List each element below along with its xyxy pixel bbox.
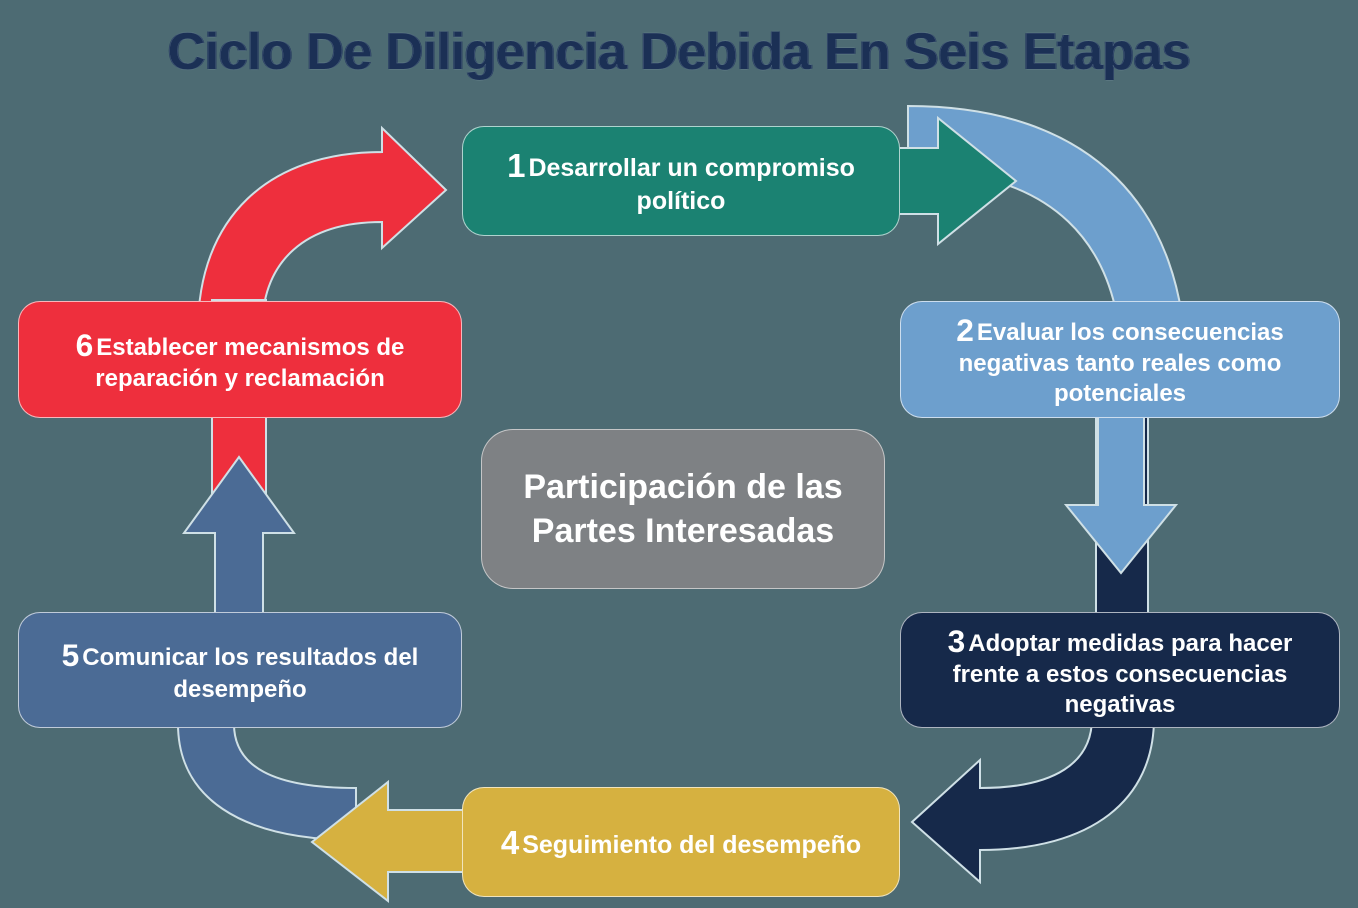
arrow-3-to-4-body bbox=[912, 718, 1154, 882]
step-label-3: Adoptar medidas para hacer frente a esto… bbox=[953, 630, 1293, 718]
step-box-3[interactable]: 3Adoptar medidas para hacer frente a est… bbox=[900, 612, 1340, 728]
step-box-2[interactable]: 2Evaluar los consecuencias negativas tan… bbox=[900, 301, 1340, 418]
connector-2-to-3 bbox=[1066, 412, 1176, 620]
connector-4-to-5 bbox=[178, 724, 466, 901]
arrow-2-to-3-body bbox=[1066, 412, 1176, 573]
step-number-3: 3 bbox=[948, 623, 966, 659]
center-hub-line-1: Participación de las bbox=[523, 465, 842, 509]
step-box-6[interactable]: 6Establecer mecanismos de reparación y r… bbox=[18, 301, 462, 418]
step-number-2: 2 bbox=[956, 312, 974, 348]
arrow-4-to-5-band bbox=[178, 724, 356, 840]
step-number-5: 5 bbox=[62, 637, 80, 673]
step-label-6: Establecer mecanismos de reparación y re… bbox=[95, 334, 404, 392]
arrow-5-to-6-body bbox=[184, 457, 294, 618]
connector-3-to-4 bbox=[912, 718, 1154, 882]
step-number-4: 4 bbox=[501, 824, 519, 861]
step-label-4: Seguimiento del desempeño bbox=[522, 831, 861, 859]
center-hub[interactable]: Participación de las Partes Interesadas bbox=[481, 429, 885, 589]
step-box-5[interactable]: 5Comunicar los resultados del desempeño bbox=[18, 612, 462, 728]
center-hub-line-2: Partes Interesadas bbox=[523, 509, 842, 553]
step-number-1: 1 bbox=[507, 147, 525, 184]
step-label-1: Desarrollar un compromiso político bbox=[528, 154, 854, 215]
step-label-2: Evaluar los consecuencias negativas tant… bbox=[959, 319, 1284, 407]
step-box-4[interactable]: 4Seguimiento del desempeño bbox=[462, 787, 900, 897]
diagram-canvas: Ciclo De Diligencia Debida En Seis Etapa… bbox=[0, 0, 1358, 908]
step-box-1[interactable]: 1Desarrollar un compromiso político bbox=[462, 126, 900, 236]
step-label-5: Comunicar los resultados del desempeño bbox=[82, 644, 418, 702]
step-number-6: 6 bbox=[76, 327, 94, 363]
